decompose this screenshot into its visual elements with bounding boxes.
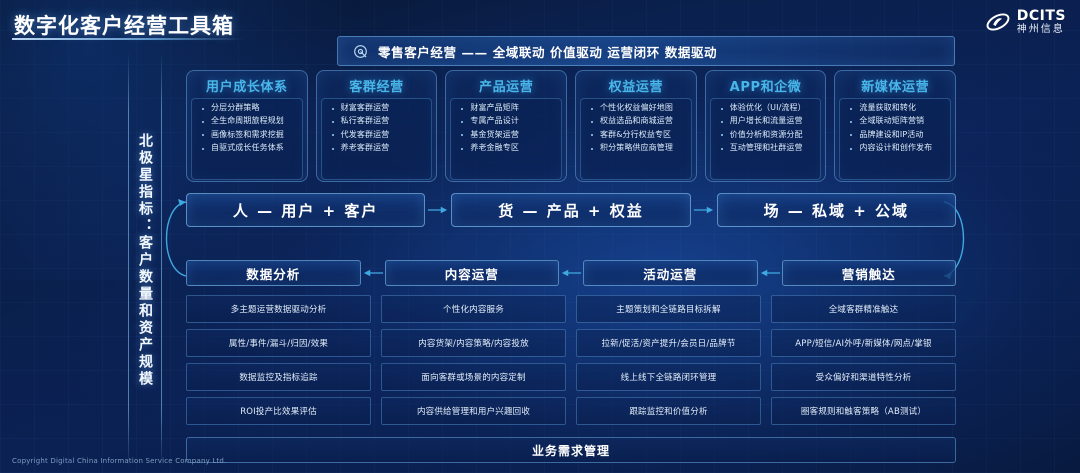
card-item: 客群&分行权益专区 — [587, 131, 688, 139]
detail-cell[interactable]: 受众偏好和渠道特性分析 — [771, 363, 956, 391]
title-underline — [12, 38, 244, 40]
card-item: 基金货架运营 — [457, 131, 558, 139]
card-item: 体验优化（UI/流程） — [717, 104, 818, 112]
pillar-column-marketing-reach: 全域客群精准触达 APP/短信/AI外呼/新媒体/网点/掌银 受众偏好和渠道特性… — [771, 295, 956, 425]
capability-card[interactable]: 用户成长体系 分层分群策略 全生命周期旅程规划 画像标签和需求挖掘 自驱式成长任… — [186, 70, 308, 182]
detail-cell[interactable]: 属性/事件/漏斗/归因/效果 — [186, 329, 371, 357]
card-title: APP和企微 — [710, 76, 822, 95]
pillar-header-marketing-reach[interactable]: 营销触达 — [782, 260, 957, 286]
copyright-text: Copyright Digital China Information Serv… — [12, 457, 226, 465]
arrow-left-icon — [361, 267, 385, 279]
card-title: 权益运营 — [580, 76, 692, 95]
card-item: 品牌建设和IP活动 — [846, 131, 947, 139]
pillar-column-data-analysis: 多主题运营数据驱动分析 属性/事件/漏斗/归因/效果 数据监控及指标追踪 ROI… — [186, 295, 371, 425]
flow-box-scene[interactable]: 场 — 私域 + 公域 — [717, 193, 956, 227]
detail-cell[interactable]: ROI投产比效果评估 — [186, 397, 371, 425]
arrow-right-icon — [425, 204, 451, 216]
card-item: 代发客群运营 — [328, 131, 429, 139]
card-body: 体验优化（UI/流程） 用户增长和流量运营 价值分析和资源分配 互动管理和社群运… — [710, 98, 822, 180]
card-item: 流量获取和转化 — [846, 104, 947, 112]
card-title: 用户成长体系 — [191, 76, 303, 95]
card-item: 积分策略供应商管理 — [587, 144, 688, 152]
detail-cell[interactable]: 面向客群或场景的内容定制 — [381, 363, 566, 391]
detail-cell[interactable]: 线上线下全链路闭环管理 — [576, 363, 761, 391]
arrow-left-icon — [559, 267, 583, 279]
card-item: 分层分群策略 — [198, 104, 299, 112]
card-body: 个性化权益偏好地图 权益选品和商城运营 客群&分行权益专区 积分策略供应商管理 — [580, 98, 692, 180]
card-item: 权益选品和商城运营 — [587, 117, 688, 125]
logo-text-cn: 神州信息 — [1017, 25, 1066, 35]
flow-box-people[interactable]: 人 — 用户 + 客户 — [186, 193, 425, 227]
pillar-header-data-analysis[interactable]: 数据分析 — [186, 260, 361, 286]
card-item: 价值分析和资源分配 — [717, 131, 818, 139]
capability-card[interactable]: 新媒体运营 流量获取和转化 全域联动矩阵营销 品牌建设和IP活动 内容设计和创作… — [834, 70, 956, 182]
card-body: 财富产品矩阵 专属产品设计 基金货架运营 养老金融专区 — [450, 98, 562, 180]
card-item: 内容设计和创作发布 — [846, 144, 947, 152]
card-body: 分层分群策略 全生命周期旅程规划 画像标签和需求挖掘 自驱式成长任务体系 — [191, 98, 303, 180]
target-icon — [353, 44, 368, 59]
headline-banner: 零售客户经营 —— 全域联动 价值驱动 运营闭环 数据驱动 — [337, 36, 955, 66]
pillar-header-content-ops[interactable]: 内容运营 — [385, 260, 560, 286]
detail-cell[interactable]: 多主题运营数据驱动分析 — [186, 295, 371, 323]
card-title: 产品运营 — [450, 76, 562, 95]
card-item: 私行客群运营 — [328, 117, 429, 125]
card-item: 用户增长和流量运营 — [717, 117, 818, 125]
pillar-column-content-ops: 个性化内容服务 内容货架/内容策略/内容投放 面向客群或场景的内容定制 内容供给… — [381, 295, 566, 425]
flow-box-goods[interactable]: 货 — 产品 + 权益 — [451, 193, 690, 227]
card-body: 流量获取和转化 全域联动矩阵营销 品牌建设和IP活动 内容设计和创作发布 — [839, 98, 951, 180]
detail-cell[interactable]: APP/短信/AI外呼/新媒体/网点/掌银 — [771, 329, 956, 357]
capability-cards: 用户成长体系 分层分群策略 全生命周期旅程规划 画像标签和需求挖掘 自驱式成长任… — [186, 70, 956, 182]
pillar-header-campaign-ops[interactable]: 活动运营 — [583, 260, 758, 286]
card-item: 养老金融专区 — [457, 144, 558, 152]
rail-line-left — [128, 52, 129, 468]
card-item: 全域联动矩阵营销 — [846, 117, 947, 125]
detail-cell[interactable]: 拉新/促活/资产提升/会员日/品牌节 — [576, 329, 761, 357]
capability-card[interactable]: 客群经营 财富客群运营 私行客群运营 代发客群运营 养老客群运营 — [316, 70, 438, 182]
card-body: 财富客群运营 私行客群运营 代发客群运营 养老客群运营 — [321, 98, 433, 180]
card-item: 养老客群运营 — [328, 144, 429, 152]
capability-card[interactable]: 产品运营 财富产品矩阵 专属产品设计 基金货架运营 养老金融专区 — [445, 70, 567, 182]
detail-cell[interactable]: 全域客群精准触达 — [771, 295, 956, 323]
arrow-left-icon — [758, 267, 782, 279]
capability-card[interactable]: APP和企微 体验优化（UI/流程） 用户增长和流量运营 价值分析和资源分配 互… — [705, 70, 827, 182]
detail-cell[interactable]: 主题策划和全链路目标拆解 — [576, 295, 761, 323]
card-item: 互动管理和社群运营 — [717, 144, 818, 152]
card-item: 专属产品设计 — [457, 117, 558, 125]
detail-cell[interactable]: 跟踪监控和价值分析 — [576, 397, 761, 425]
pillar-column-campaign-ops: 主题策划和全链路目标拆解 拉新/促活/资产提升/会员日/品牌节 线上线下全链路闭… — [576, 295, 761, 425]
capability-card[interactable]: 权益运营 个性化权益偏好地图 权益选品和商城运营 客群&分行权益专区 积分策略供… — [575, 70, 697, 182]
detail-cell[interactable]: 内容供给管理和用户兴趣回收 — [381, 397, 566, 425]
card-item: 财富产品矩阵 — [457, 104, 558, 112]
pillar-header-row: 数据分析 内容运营 活动运营 营销触达 — [186, 260, 956, 286]
arrow-right-icon — [691, 204, 717, 216]
dcits-swirl-icon — [985, 9, 1011, 35]
rail-line-right — [161, 52, 162, 468]
north-star-rail: 北极星指标：客户数量和资产规模 — [128, 60, 162, 460]
detail-cell[interactable]: 圈客规则和触客策略（AB测试） — [771, 397, 956, 425]
brand-logo: DCITS 神州信息 — [985, 9, 1066, 35]
detail-cell[interactable]: 内容货架/内容策略/内容投放 — [381, 329, 566, 357]
card-title: 客群经营 — [321, 76, 433, 95]
logo-text-en: DCITS — [1017, 9, 1066, 23]
page-title: 数字化客户经营工具箱 — [14, 10, 234, 40]
bottom-bar[interactable]: 业务需求管理 — [186, 437, 956, 463]
flow-row: 人 — 用户 + 客户 货 — 产品 + 权益 场 — 私域 + 公域 — [186, 193, 956, 227]
banner-text: 零售客户经营 —— 全域联动 价值驱动 运营闭环 数据驱动 — [378, 42, 717, 61]
north-star-label: 北极星指标：客户数量和资产规模 — [137, 133, 153, 388]
card-item: 自驱式成长任务体系 — [198, 144, 299, 152]
card-item: 财富客群运营 — [328, 104, 429, 112]
card-item: 全生命周期旅程规划 — [198, 117, 299, 125]
card-item: 画像标签和需求挖掘 — [198, 131, 299, 139]
detail-cell[interactable]: 数据监控及指标追踪 — [186, 363, 371, 391]
pillar-detail-grid: 多主题运营数据驱动分析 属性/事件/漏斗/归因/效果 数据监控及指标追踪 ROI… — [186, 295, 956, 425]
card-title: 新媒体运营 — [839, 76, 951, 95]
card-item: 个性化权益偏好地图 — [587, 104, 688, 112]
detail-cell[interactable]: 个性化内容服务 — [381, 295, 566, 323]
